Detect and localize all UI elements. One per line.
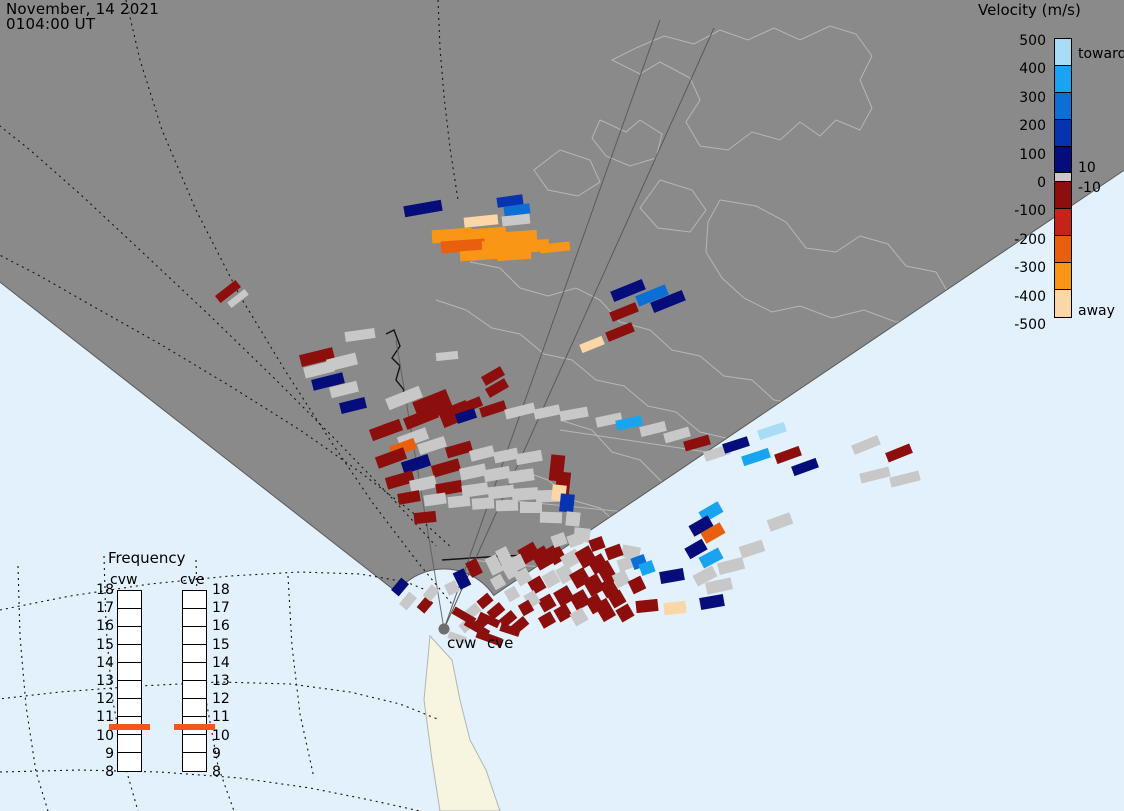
colorbar-tick: 500 [1000,33,1046,49]
frequency-legend-title: Frequency [108,549,186,567]
colorbar-tick: -200 [1000,232,1046,248]
frequency-scale-cell [118,735,141,753]
superdarn-velocity-map: November, 14 20210104:00 UT Velocity (m/… [0,0,1124,811]
frequency-scale-cell [118,699,141,717]
velocity-cell [559,493,575,512]
frequency-scale-cell [118,663,141,681]
frequency-scale-cell [183,609,206,627]
colorbar-tick: 400 [1000,61,1046,77]
colorbar-segment [1055,209,1071,236]
colorbar-segment [1055,290,1071,317]
colorbar-tick: -100 [1000,203,1046,219]
frequency-scale-cell [118,681,141,699]
frequency-bar-cvw[interactable] [117,590,142,772]
colorbar-segment [1055,66,1071,93]
colorbar-tick: 0 [1000,175,1046,191]
frequency-scale-cell [118,627,141,645]
frequency-tick-right: 10 [212,728,234,744]
timestamp-block: November, 14 20210104:00 UT [6,2,159,32]
frequency-scale-cell [183,681,206,699]
frequency-tick-left: 9 [92,746,114,762]
frequency-scale-cell [183,591,206,609]
frequency-scale-cell [183,735,206,753]
frequency-scale-cell [183,645,206,663]
frequency-tick-left: 10 [92,728,114,744]
frequency-scale-cell [183,699,206,717]
frequency-tick-left: 17 [92,600,114,616]
frequency-bar-cve[interactable] [182,590,207,772]
velocity-cell [635,599,658,613]
colorbar-toward-label: toward [1078,46,1124,62]
frequency-tick-right: 17 [212,600,234,616]
frequency-tick-left: 16 [92,618,114,634]
colorbar-near-zero-upper-label: 10 [1078,160,1096,176]
station-label-cvw: cvw [447,634,476,652]
frequency-tick-right: 12 [212,691,234,707]
colorbar-title: Velocity (m/s) [978,1,1081,19]
frequency-column-header-cve: cve [180,572,205,588]
velocity-cell [496,500,518,512]
colorbar-segment [1055,39,1071,66]
frequency-scale-cell [183,753,206,771]
frequency-tick-left: 13 [92,673,114,689]
frequency-tick-right: 14 [212,655,234,671]
frequency-scale-cell [183,663,206,681]
frequency-marker-cvw [109,724,150,730]
map-canvas[interactable] [0,0,1124,811]
frequency-tick-right: 8 [212,764,234,780]
colorbar-tick: -300 [1000,260,1046,276]
velocity-cell [413,511,436,524]
colorbar-segment [1055,120,1071,147]
frequency-tick-right: 11 [212,709,234,725]
colorbar-segment [1055,173,1071,182]
colorbar-segment [1055,93,1071,120]
frequency-tick-left: 15 [92,637,114,653]
frequency-tick-left: 8 [92,764,114,780]
colorbar-segment [1055,182,1071,209]
colorbar-near-zero-lower-label: -10 [1078,180,1101,196]
velocity-cell [472,497,495,510]
frequency-tick-left: 14 [92,655,114,671]
colorbar-tick: -400 [1000,289,1046,305]
timestamp-time: 0104:00 UT [6,15,95,33]
colorbar-away-label: away [1078,303,1115,319]
frequency-tick-right: 13 [212,673,234,689]
colorbar-tick: 200 [1000,118,1046,134]
frequency-scale-cell [118,753,141,771]
colorbar-segment [1055,236,1071,263]
frequency-scale-cell [118,645,141,663]
velocity-colorbar[interactable] [1054,38,1072,318]
velocity-cell [565,511,580,526]
colorbar-segment [1055,263,1071,290]
frequency-column-header-cvw: cvw [110,572,137,588]
frequency-scale-cell [183,627,206,645]
frequency-tick-left: 12 [92,691,114,707]
colorbar-tick: 100 [1000,147,1046,163]
frequency-tick-right: 9 [212,746,234,762]
colorbar-segment [1055,147,1071,174]
frequency-scale-cell [118,609,141,627]
frequency-tick-right: 18 [212,582,234,598]
velocity-cell [663,601,686,615]
frequency-tick-right: 15 [212,637,234,653]
velocity-cell [540,512,562,524]
velocity-cell [512,487,539,501]
colorbar-tick: -500 [1000,317,1046,333]
station-label-cve: cve [487,634,513,652]
colorbar-tick: 300 [1000,90,1046,106]
velocity-cell [447,495,470,508]
frequency-tick-left: 18 [92,582,114,598]
frequency-tick-right: 16 [212,618,234,634]
radar-station-dot[interactable] [439,624,450,635]
frequency-scale-cell [118,591,141,609]
velocity-cell [520,502,542,513]
frequency-marker-cve [174,724,215,730]
